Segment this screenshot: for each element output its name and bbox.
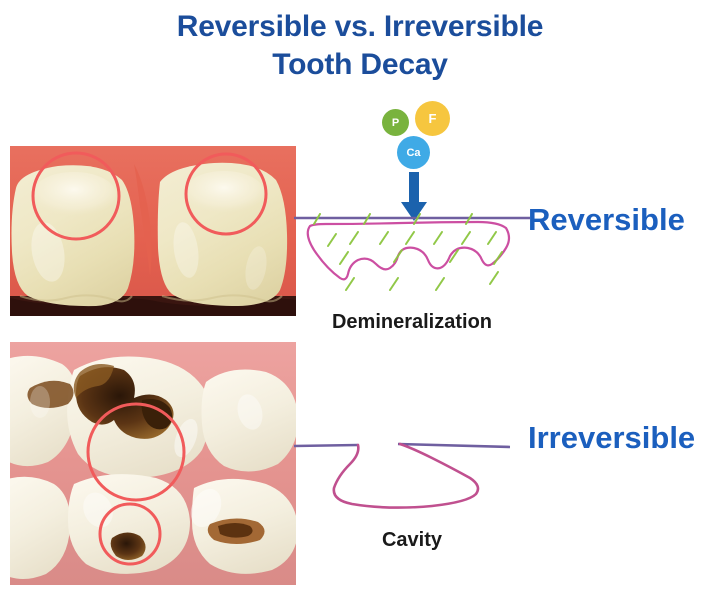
- page-title-line-1: Reversible vs. Irreversible: [0, 8, 720, 46]
- posterior-teeth-illustration: [10, 342, 296, 585]
- enamel-surface-line-right: [398, 444, 510, 447]
- ion-label-fluoride: F: [429, 111, 437, 126]
- demineralization-diagram: [292, 206, 532, 306]
- caption-cavity: Cavity: [292, 529, 532, 552]
- ion-badge-fluoride: F: [415, 101, 450, 136]
- ion-badge-calcium: Ca: [397, 136, 430, 169]
- photo-white-spot-lesions: [10, 146, 296, 316]
- lesion-outline: [308, 222, 509, 279]
- ion-label-phosphorus: P: [392, 117, 399, 129]
- ion-badge-phosphorus: P: [382, 109, 409, 136]
- outcome-label-reversible: Reversible: [528, 202, 685, 238]
- cavity-diagram: [292, 424, 532, 514]
- enamel-surface-line-left: [294, 445, 358, 446]
- page-title-line-2: Tooth Decay: [0, 46, 720, 84]
- photo-cavitated-lesions: [10, 342, 296, 585]
- page-title: Reversible vs. Irreversible Tooth Decay: [0, 8, 720, 84]
- anterior-teeth-illustration: [10, 146, 296, 316]
- caption-demineralization: Demineralization: [292, 311, 532, 334]
- ion-label-calcium: Ca: [406, 147, 420, 159]
- cavity-outline: [334, 444, 478, 508]
- outcome-label-irreversible: Irreversible: [528, 420, 695, 456]
